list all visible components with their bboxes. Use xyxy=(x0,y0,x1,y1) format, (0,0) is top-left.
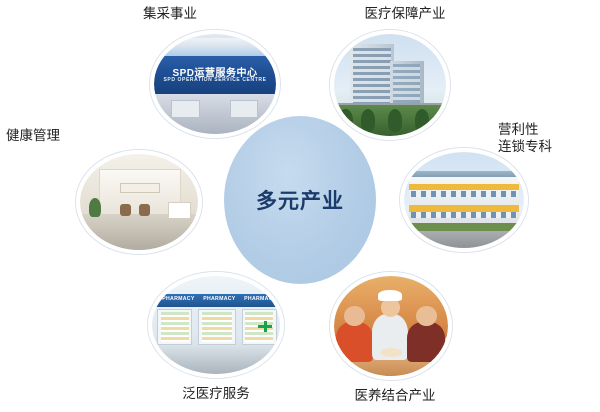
spd-subtitle-text: SPD OPERATION SERVICE CENTRE xyxy=(154,77,276,83)
caption-procurement: 集采事业 xyxy=(110,6,230,23)
caption-for-profit-chain-line1: 营利性 xyxy=(498,122,598,139)
spd-operation-center-photo: SPD运营服务中心 SPD OPERATION SERVICE CENTRE xyxy=(150,30,280,138)
pharmacy-sign-text-3: PHARMACY xyxy=(244,296,276,302)
center-node-label: 多元产业 xyxy=(256,185,344,215)
caption-for-profit-chain: 营利性 连锁专科 xyxy=(498,122,598,156)
diagram-canvas: 多元产业 SPD运营服务中心 SPD OPERATION SERVICE CEN… xyxy=(0,0,600,412)
health-center-lobby-photo xyxy=(76,150,202,254)
caption-general-medical-services: 泛医疗服务 xyxy=(148,386,284,403)
caption-health-management: 健康管理 xyxy=(6,128,106,145)
pharmacy-sign-text-1: PHARMACY xyxy=(162,296,194,302)
caption-medical-care-integration: 医养结合产业 xyxy=(330,388,460,405)
center-node: 多元产业 xyxy=(224,116,376,284)
pharmacy-cross-icon xyxy=(258,321,272,332)
clinic-building-photo xyxy=(400,148,528,252)
caption-for-profit-chain-line2: 连锁专科 xyxy=(498,139,598,156)
hospital-tower-photo xyxy=(330,30,450,140)
elderly-care-meal-photo xyxy=(330,272,452,380)
caption-medical-insurance: 医疗保障产业 xyxy=(340,6,470,23)
pharmacy-sign-text-2: PHARMACY xyxy=(203,296,235,302)
pharmacy-interior-photo: PHARMACY PHARMACY PHARMACY xyxy=(148,272,284,378)
